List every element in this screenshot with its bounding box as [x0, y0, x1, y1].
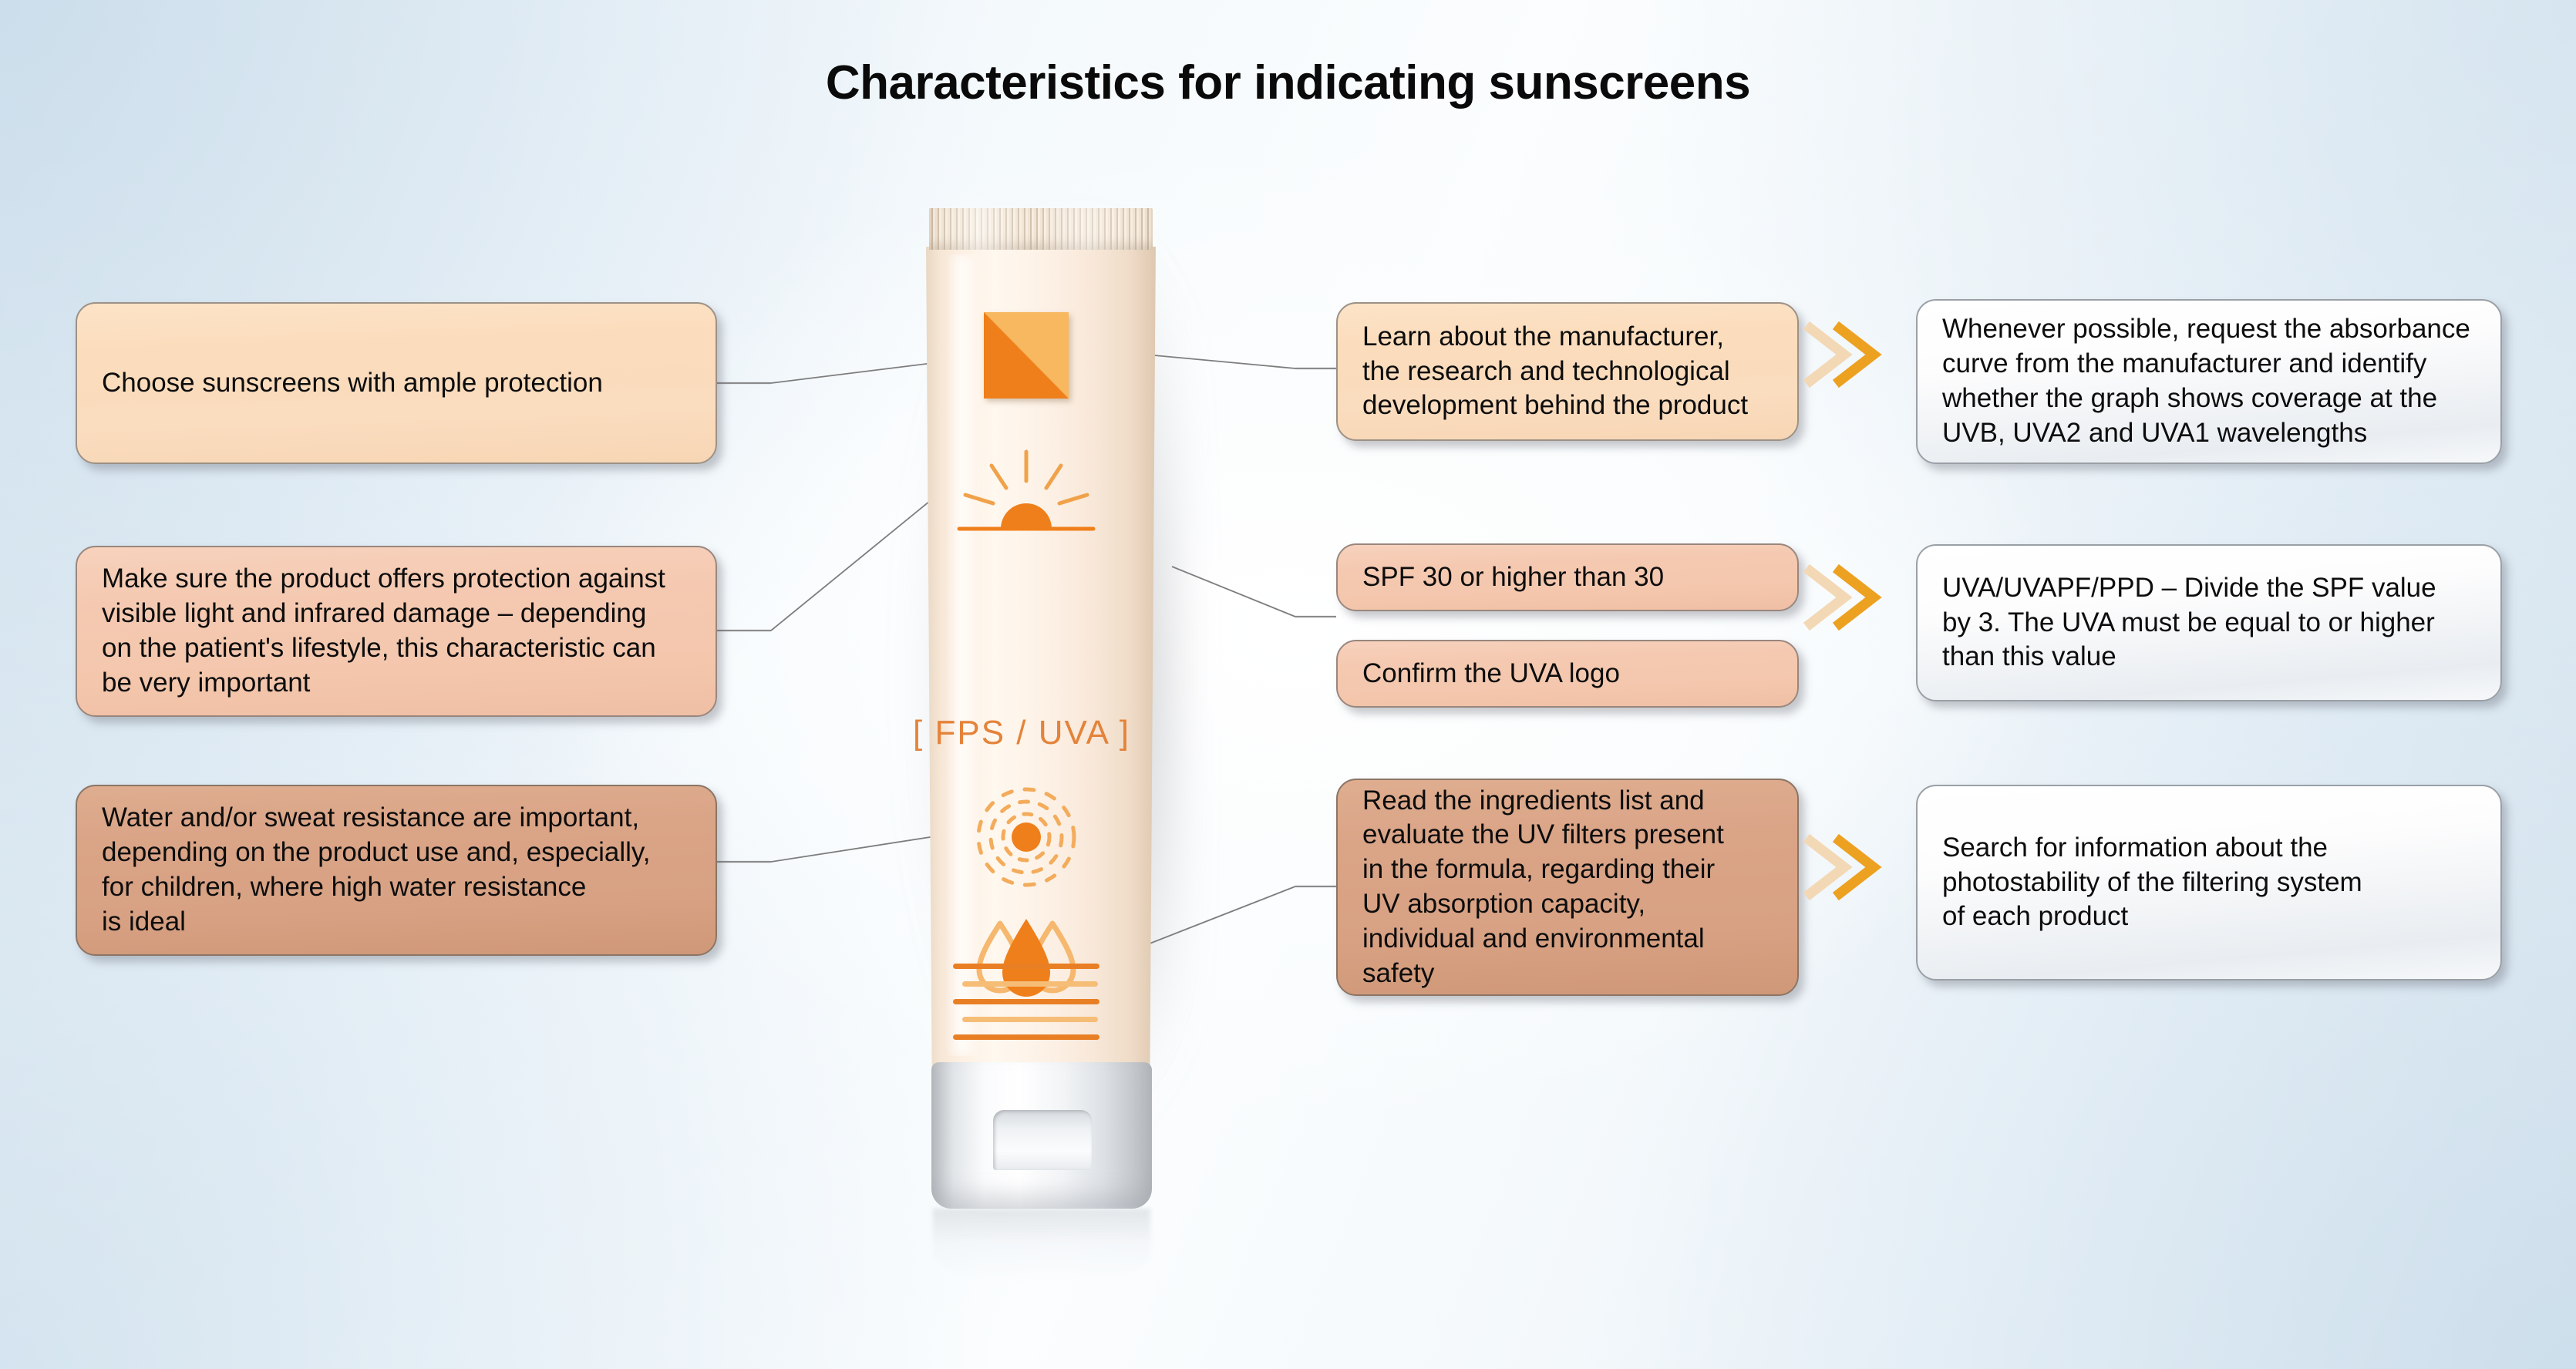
callout-text: SPF 30 or higher than 30	[1362, 560, 1773, 595]
callout-visible-light-infrared[interactable]: Make sure the product offers protection …	[76, 546, 717, 717]
tube-reflection	[933, 1209, 1150, 1283]
label-lines-icon	[953, 964, 1099, 1052]
callout-text: Whenever possible, request the absorbanc…	[1942, 312, 2476, 450]
callout-photostability[interactable]: Search for information about the photost…	[1916, 785, 2502, 980]
callout-uva-logo[interactable]: Confirm the UVA logo	[1336, 640, 1799, 708]
chevron-double-right-icon-2	[1796, 551, 1889, 644]
tube-cap-notch	[993, 1110, 1092, 1170]
callout-absorbance-curve[interactable]: Whenever possible, request the absorbanc…	[1916, 299, 2502, 464]
callout-text: Confirm the UVA logo	[1362, 657, 1773, 691]
infographic-canvas: Characteristics for indicating sunscreen…	[0, 0, 2576, 1369]
callout-text: Learn about the manufacturer, the resear…	[1362, 320, 1773, 423]
tube-crimp-highlight	[929, 208, 1153, 250]
callout-manufacturer-research[interactable]: Learn about the manufacturer, the resear…	[1336, 302, 1799, 441]
callout-text: Make sure the product offers protection …	[102, 562, 691, 700]
callout-text: Read the ingredients list and evaluate t…	[1362, 784, 1773, 991]
callout-spf-30[interactable]: SPF 30 or higher than 30	[1336, 543, 1799, 611]
chevron-double-right-icon-1	[1796, 308, 1889, 401]
callout-text: Search for information about the photost…	[1942, 831, 2476, 934]
uv-radiation-icon	[968, 779, 1085, 896]
callout-text: Choose sunscreens with ample protection	[102, 366, 691, 401]
fps-uva-label: [ FPS / UVA ]	[848, 714, 1195, 752]
sunscreen-tube: [ FPS / UVA ]	[802, 193, 1234, 1210]
chevron-double-right-icon-3	[1796, 821, 1889, 913]
callout-uva-uvapf-ppd[interactable]: UVA/UVAPF/PPD – Divide the SPF value by …	[1916, 544, 2502, 701]
callout-water-sweat-resistance[interactable]: Water and/or sweat resistance are import…	[76, 785, 717, 956]
callout-ingredients-list[interactable]: Read the ingredients list and evaluate t…	[1336, 779, 1799, 996]
page-title: Characteristics for indicating sunscreen…	[0, 55, 2576, 110]
sunrise-icon	[953, 447, 1099, 547]
callout-ample-protection[interactable]: Choose sunscreens with ample protection	[76, 302, 717, 464]
callout-text: UVA/UVAPF/PPD – Divide the SPF value by …	[1942, 571, 2476, 674]
uva-logo-square-icon	[984, 312, 1069, 399]
callout-text: Water and/or sweat resistance are import…	[102, 801, 691, 939]
